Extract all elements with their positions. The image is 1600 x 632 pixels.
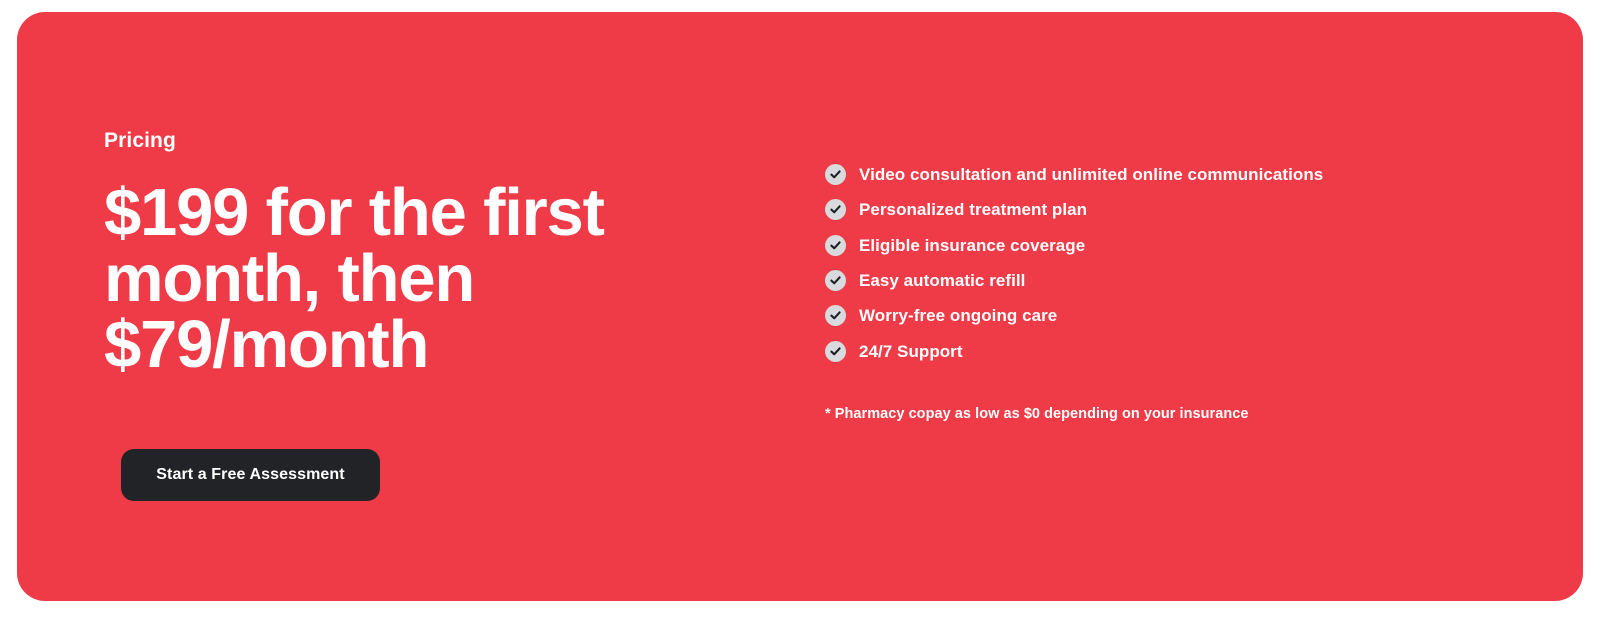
list-item: 24/7 Support (825, 333, 1505, 368)
check-circle-icon (825, 199, 846, 220)
feature-label: 24/7 Support (859, 341, 963, 362)
feature-label: Easy automatic refill (859, 270, 1025, 291)
feature-label: Worry-free ongoing care (859, 305, 1057, 326)
start-free-assessment-button[interactable]: Start a Free Assessment (121, 449, 380, 501)
list-item: Worry-free ongoing care (825, 298, 1505, 333)
feature-label: Personalized treatment plan (859, 199, 1087, 220)
check-circle-icon (825, 305, 846, 326)
pricing-left-column: Pricing $199 for the first month, then $… (104, 128, 724, 378)
check-circle-icon (825, 235, 846, 256)
check-circle-icon (825, 341, 846, 362)
pricing-right-column: Video consultation and unlimited online … (825, 157, 1505, 424)
check-circle-icon (825, 270, 846, 291)
feature-list: Video consultation and unlimited online … (825, 157, 1505, 369)
page-root: Pricing $199 for the first month, then $… (0, 0, 1600, 632)
pricing-footnote: * Pharmacy copay as low as $0 depending … (825, 405, 1505, 424)
feature-label: Eligible insurance coverage (859, 235, 1085, 256)
list-item: Personalized treatment plan (825, 192, 1505, 227)
list-item: Eligible insurance coverage (825, 228, 1505, 263)
pricing-card: Pricing $199 for the first month, then $… (17, 12, 1583, 601)
list-item: Video consultation and unlimited online … (825, 157, 1505, 192)
list-item: Easy automatic refill (825, 263, 1505, 298)
page-title: Pricing (104, 128, 724, 154)
check-circle-icon (825, 164, 846, 185)
feature-label: Video consultation and unlimited online … (859, 164, 1323, 185)
pricing-headline: $199 for the first month, then $79/month (104, 180, 724, 378)
